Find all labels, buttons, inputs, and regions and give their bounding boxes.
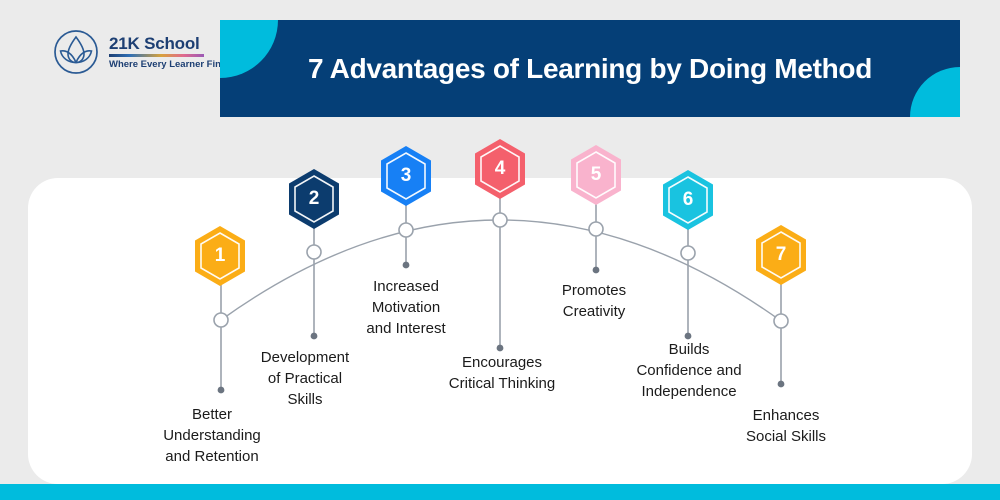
hexagon-icon — [193, 225, 247, 287]
arc-node-circle[interactable] — [774, 314, 788, 328]
label-anchor-dot — [593, 267, 600, 274]
hexagon-icon — [287, 168, 341, 230]
advantage-badge-2[interactable]: 2 — [287, 168, 341, 230]
arc-node-circle[interactable] — [589, 222, 603, 236]
advantage-badge-3[interactable]: 3 — [379, 145, 433, 207]
advantage-label-4: Encourages Critical Thinking — [449, 352, 555, 394]
advantages-diagram: 1Better Understanding and Retention2Deve… — [0, 0, 1000, 500]
advantage-label-2: Development of Practical Skills — [261, 347, 349, 410]
label-anchor-dot — [311, 333, 318, 340]
arc-node-circle[interactable] — [307, 245, 321, 259]
arc-connector-svg — [0, 0, 1000, 500]
footer-accent-bar — [0, 484, 1000, 500]
label-anchor-dot — [218, 387, 225, 394]
label-anchor-dot — [403, 262, 410, 269]
label-anchor-dot — [778, 381, 785, 388]
advantage-badge-6[interactable]: 6 — [661, 169, 715, 231]
arc-node-circle[interactable] — [681, 246, 695, 260]
advantage-label-7: Enhances Social Skills — [746, 405, 826, 447]
advantage-badge-7[interactable]: 7 — [754, 224, 808, 286]
hexagon-icon — [379, 145, 433, 207]
advantage-label-1: Better Understanding and Retention — [163, 404, 261, 467]
hexagon-icon — [473, 138, 527, 200]
hexagon-icon — [754, 224, 808, 286]
hexagon-icon — [661, 169, 715, 231]
arc-node-circle[interactable] — [493, 213, 507, 227]
hexagon-icon — [569, 144, 623, 206]
infographic-page: 21K School Where Every Learner Finds The… — [0, 0, 1000, 500]
advantage-badge-1[interactable]: 1 — [193, 225, 247, 287]
advantage-badge-5[interactable]: 5 — [569, 144, 623, 206]
arc-node-circle[interactable] — [214, 313, 228, 327]
advantage-label-3: Increased Motivation and Interest — [366, 276, 445, 339]
label-anchor-dot — [497, 345, 504, 352]
advantage-label-6: Builds Confidence and Independence — [636, 339, 741, 402]
advantage-badge-4[interactable]: 4 — [473, 138, 527, 200]
arc-path — [221, 220, 781, 321]
advantage-label-5: Promotes Creativity — [562, 280, 626, 322]
arc-node-circle[interactable] — [399, 223, 413, 237]
